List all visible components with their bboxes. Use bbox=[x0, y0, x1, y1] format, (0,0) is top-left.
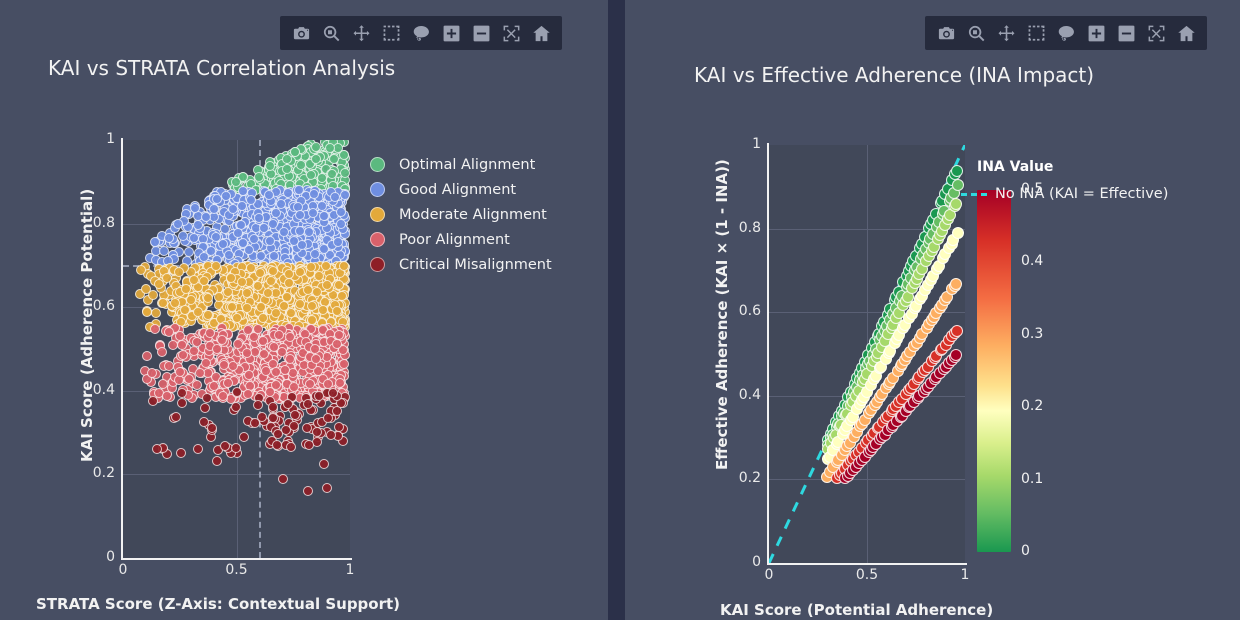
y-axis-line-left bbox=[121, 138, 123, 560]
scatter-point bbox=[282, 292, 292, 302]
colorbar-tick-label-1: 0.1 bbox=[1021, 471, 1043, 487]
scatter-point bbox=[171, 412, 181, 422]
chart-panel-kai-vs-effective: KAI vs Effective Adherence (INA Impact) … bbox=[625, 0, 1240, 620]
scatter-point bbox=[269, 342, 279, 352]
scatter-point bbox=[306, 170, 316, 180]
scatter-point bbox=[178, 231, 188, 241]
zoom-in-icon[interactable] bbox=[436, 16, 466, 50]
scatter-point bbox=[164, 361, 174, 371]
scatter-point bbox=[295, 210, 305, 220]
chart-panel-kai-vs-strata: KAI vs STRATA Correlation Analysis KAI S… bbox=[0, 0, 608, 620]
dashboard-root: KAI vs STRATA Correlation Analysis KAI S… bbox=[0, 0, 1240, 620]
zoom-in-icon[interactable] bbox=[1081, 16, 1111, 50]
legend-item-label: Poor Alignment bbox=[399, 232, 510, 248]
scatter-point bbox=[273, 429, 283, 439]
chart-title-left: KAI vs STRATA Correlation Analysis bbox=[48, 56, 395, 80]
colorbar-tick-label-2: 0.2 bbox=[1021, 398, 1043, 414]
colorbar-title: INA Value bbox=[977, 159, 1053, 175]
y-tick-label-5: 1 bbox=[55, 131, 115, 147]
panel-divider bbox=[608, 0, 625, 620]
reset-axes-icon[interactable] bbox=[526, 16, 556, 50]
scatter-point bbox=[254, 172, 264, 182]
legend-item-0[interactable]: Optimal Alignment bbox=[370, 152, 552, 177]
scatter-point bbox=[278, 474, 288, 484]
chart-title-right: KAI vs Effective Adherence (INA Impact) bbox=[694, 63, 1094, 87]
scatter-point bbox=[214, 292, 224, 302]
scatter-point bbox=[148, 290, 158, 300]
scatter-point bbox=[284, 269, 294, 279]
scatter-point bbox=[232, 313, 242, 323]
plotly-modebar-left[interactable] bbox=[280, 16, 562, 50]
scatter-point bbox=[322, 483, 332, 493]
scatter-point bbox=[321, 261, 331, 271]
lasso-select-icon[interactable] bbox=[406, 16, 436, 50]
scatter-point bbox=[261, 366, 271, 376]
scatter-point bbox=[333, 237, 343, 247]
scatter-point bbox=[305, 379, 315, 389]
scatter-point bbox=[255, 268, 265, 278]
legend-item-1[interactable]: Good Alignment bbox=[370, 177, 552, 202]
scatter-point bbox=[223, 287, 233, 297]
scatter-point bbox=[312, 287, 322, 297]
scatter-point bbox=[319, 211, 329, 221]
scatter-point bbox=[268, 402, 278, 412]
scatter-point bbox=[170, 298, 180, 308]
scatter-point bbox=[203, 293, 213, 303]
scatter-point bbox=[150, 324, 160, 334]
scatter-point bbox=[265, 236, 275, 246]
scatter-point bbox=[186, 295, 196, 305]
scatter-point bbox=[268, 266, 278, 276]
scatter-point bbox=[306, 262, 316, 272]
scatter-point bbox=[257, 412, 267, 422]
legend-marker-0 bbox=[370, 157, 385, 172]
scatter-point bbox=[168, 340, 178, 350]
scatter-point bbox=[330, 192, 340, 202]
scatter-point bbox=[326, 430, 336, 440]
x-axis-line-left bbox=[121, 558, 352, 560]
scatter-point bbox=[231, 402, 241, 412]
scatter-point bbox=[157, 347, 167, 357]
zoom-out-icon[interactable] bbox=[1111, 16, 1141, 50]
scatter-point bbox=[334, 280, 344, 290]
legend-marker-2 bbox=[370, 207, 385, 222]
scatter-point bbox=[282, 164, 292, 174]
scatter-point bbox=[226, 273, 236, 283]
scatter-point bbox=[295, 299, 305, 309]
pan-icon[interactable] bbox=[991, 16, 1021, 50]
scatter-point bbox=[284, 278, 294, 288]
scatter-point bbox=[193, 444, 203, 454]
colorbar-tick-label-0: 0 bbox=[1021, 543, 1030, 559]
scatter-point bbox=[151, 308, 161, 318]
scatter-point bbox=[276, 199, 286, 209]
scatter-point bbox=[162, 391, 172, 401]
scatter-point bbox=[147, 368, 157, 378]
x-tick-label-2: 1 bbox=[320, 562, 380, 578]
scatter-point bbox=[303, 486, 313, 496]
scatter-point bbox=[265, 161, 275, 171]
scatter-point bbox=[336, 219, 346, 229]
scatter-point bbox=[243, 389, 253, 399]
legend-item-4[interactable]: Critical Misalignment bbox=[370, 252, 552, 277]
scatter-point bbox=[189, 275, 199, 285]
y-tick-label-2: 0.4 bbox=[701, 387, 761, 403]
scatter-point bbox=[212, 194, 222, 204]
scatter-point bbox=[253, 281, 263, 291]
y-tick-label-5: 1 bbox=[701, 136, 761, 152]
scatter-point bbox=[199, 276, 209, 286]
scatter-point bbox=[246, 195, 256, 205]
scatter-point bbox=[335, 378, 345, 388]
plot-area-left[interactable] bbox=[123, 140, 350, 558]
scatter-point bbox=[142, 351, 152, 361]
colorbar-tick-label-4: 0.4 bbox=[1021, 253, 1043, 269]
scatter-point bbox=[951, 165, 963, 177]
scatter-point bbox=[312, 427, 322, 437]
y-tick-label-4: 0.8 bbox=[55, 215, 115, 231]
scatter-point bbox=[227, 302, 237, 312]
legend-item-3[interactable]: Poor Alignment bbox=[370, 227, 552, 252]
scatter-point bbox=[256, 251, 266, 261]
zoom-icon[interactable] bbox=[316, 16, 346, 50]
legend-item-label: Moderate Alignment bbox=[399, 207, 547, 223]
scatter-point bbox=[233, 339, 243, 349]
legend-left[interactable]: Optimal AlignmentGood AlignmentModerate … bbox=[370, 152, 552, 277]
scatter-point bbox=[285, 354, 295, 364]
autoscale-icon[interactable] bbox=[496, 16, 526, 50]
scatter-point bbox=[951, 325, 963, 337]
scatter-point bbox=[249, 234, 259, 244]
scatter-point bbox=[266, 276, 276, 286]
y-tick-label-3: 0.6 bbox=[55, 298, 115, 314]
legend-marker-4 bbox=[370, 257, 385, 272]
scatter-point bbox=[243, 325, 253, 335]
scatter-point bbox=[285, 332, 295, 342]
y-tick-label-4: 0.8 bbox=[701, 220, 761, 236]
colorbar-gradient bbox=[977, 190, 1011, 552]
scatter-point bbox=[319, 459, 329, 469]
box-select-icon[interactable] bbox=[1021, 16, 1051, 50]
y-tick-label-2: 0.4 bbox=[55, 382, 115, 398]
x-tick-label-2: 1 bbox=[935, 567, 995, 583]
scatter-point bbox=[205, 328, 215, 338]
scatter-point bbox=[340, 190, 350, 200]
y-axis-line-right bbox=[767, 143, 769, 565]
legend-reference-line-label: No INA (KAI = Effective) bbox=[995, 186, 1168, 202]
reset-axes-icon[interactable] bbox=[1171, 16, 1201, 50]
scatter-point bbox=[327, 169, 337, 179]
scatter-point bbox=[195, 368, 205, 378]
scatter-point bbox=[148, 396, 158, 406]
scatter-point bbox=[200, 403, 210, 413]
scatter-point bbox=[231, 177, 241, 187]
scatter-point bbox=[323, 413, 333, 423]
scatter-point bbox=[136, 265, 146, 275]
x-axis-title-left: STRATA Score (Z-Axis: Contextual Support… bbox=[36, 595, 400, 613]
pan-icon[interactable] bbox=[346, 16, 376, 50]
legend-marker-1 bbox=[370, 182, 385, 197]
legend-marker-3 bbox=[370, 232, 385, 247]
scatter-point bbox=[336, 207, 346, 217]
scatter-point bbox=[242, 348, 252, 358]
scatter-point bbox=[177, 398, 187, 408]
scatter-point bbox=[289, 382, 299, 392]
scatter-point bbox=[317, 201, 327, 211]
zoom-out-icon[interactable] bbox=[466, 16, 496, 50]
scatter-point bbox=[254, 213, 264, 223]
scatter-point bbox=[228, 361, 238, 371]
download-plot-icon[interactable] bbox=[286, 16, 316, 50]
scatter-point bbox=[950, 278, 962, 290]
scatter-point bbox=[289, 421, 299, 431]
scatter-point bbox=[307, 301, 317, 311]
box-select-icon[interactable] bbox=[376, 16, 406, 50]
x-tick-label-0: 0 bbox=[93, 562, 153, 578]
scatter-point bbox=[303, 399, 313, 409]
autoscale-icon[interactable] bbox=[1141, 16, 1171, 50]
plot-area-right[interactable] bbox=[769, 145, 965, 563]
x-axis-title-right: KAI Score (Potential Adherence) bbox=[720, 601, 993, 619]
scatter-point bbox=[242, 288, 252, 298]
x-axis-line-right bbox=[767, 563, 967, 565]
scatter-point bbox=[164, 327, 174, 337]
scatter-point bbox=[304, 440, 314, 450]
scatter-point bbox=[322, 280, 332, 290]
scatter-point bbox=[220, 441, 230, 451]
scatter-point bbox=[310, 344, 320, 354]
y-tick-label-1: 0.2 bbox=[55, 465, 115, 481]
scatter-point bbox=[212, 344, 222, 354]
scatter-point bbox=[201, 358, 211, 368]
scatter-point bbox=[337, 291, 347, 301]
scatter-point bbox=[274, 330, 284, 340]
scatter-point bbox=[280, 365, 290, 375]
scatter-point bbox=[268, 413, 278, 423]
scatter-point bbox=[952, 227, 964, 239]
scatter-point bbox=[332, 306, 342, 316]
legend-item-label: Optimal Alignment bbox=[399, 157, 535, 173]
scatter-point bbox=[184, 374, 194, 384]
x-tick-label-0: 0 bbox=[739, 567, 799, 583]
scatter-point bbox=[154, 279, 164, 289]
scatter-point bbox=[279, 227, 289, 237]
y-tick-label-1: 0.2 bbox=[701, 470, 761, 486]
scatter-point bbox=[178, 350, 188, 360]
x-tick-label-1: 0.5 bbox=[837, 567, 897, 583]
scatter-point bbox=[231, 443, 241, 453]
scatter-point bbox=[308, 208, 318, 218]
legend-reference-line[interactable]: No INA (KAI = Effective) bbox=[961, 186, 1168, 202]
legend-item-label: Good Alignment bbox=[399, 182, 516, 198]
scatter-point bbox=[174, 267, 184, 277]
download-plot-icon[interactable] bbox=[931, 16, 961, 50]
colorbar-tick-label-3: 0.3 bbox=[1021, 326, 1043, 342]
scatter-point bbox=[279, 301, 289, 311]
plotly-modebar-right[interactable] bbox=[925, 16, 1207, 50]
scatter-point bbox=[152, 444, 162, 454]
scatter-point bbox=[271, 308, 281, 318]
zoom-icon[interactable] bbox=[961, 16, 991, 50]
scatter-point bbox=[286, 442, 296, 452]
scatter-point bbox=[290, 410, 300, 420]
scatter-point bbox=[242, 303, 252, 313]
x-tick-label-1: 0.5 bbox=[207, 562, 267, 578]
scatter-point bbox=[202, 393, 212, 403]
scatter-point bbox=[223, 378, 233, 388]
scatter-point bbox=[184, 247, 194, 257]
scatter-point bbox=[212, 456, 222, 466]
legend-item-2[interactable]: Moderate Alignment bbox=[370, 202, 552, 227]
lasso-select-icon[interactable] bbox=[1051, 16, 1081, 50]
y-tick-label-3: 0.6 bbox=[701, 303, 761, 319]
scatter-point bbox=[203, 310, 213, 320]
scatter-point bbox=[239, 432, 249, 442]
scatter-point bbox=[340, 168, 350, 178]
scatter-point bbox=[253, 400, 263, 410]
legend-item-label: Critical Misalignment bbox=[399, 257, 552, 273]
dashed-line-icon bbox=[961, 193, 987, 196]
scatter-point bbox=[176, 448, 186, 458]
scatter-point bbox=[209, 381, 219, 391]
scatter-point bbox=[256, 302, 266, 312]
